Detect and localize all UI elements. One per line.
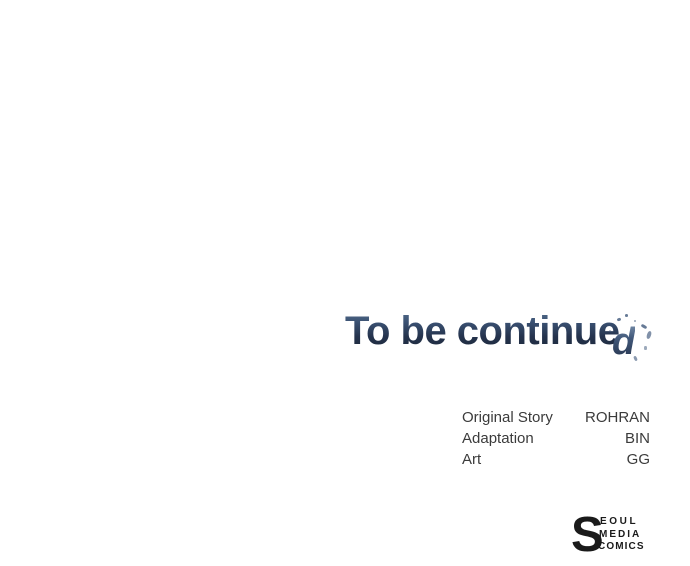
- to-be-continued-text: To be continue: [345, 308, 619, 354]
- logo-line-eoul: EOUL: [598, 516, 645, 529]
- credit-name-value: GG: [617, 449, 650, 470]
- credit-role-label: Original Story: [462, 407, 553, 428]
- credit-role-label: Adaptation: [462, 428, 534, 449]
- credit-name-value: ROHRAN: [575, 407, 650, 428]
- water-splash-droplet-icon: [609, 330, 611, 332]
- to-be-continued-title: To be continue d: [345, 308, 675, 370]
- to-be-continued-final-letter: d: [612, 322, 635, 362]
- credit-row: Original Story ROHRAN: [462, 407, 650, 428]
- logo-line-comics: COMICS: [598, 541, 645, 554]
- credit-role-label: Art: [462, 449, 481, 470]
- water-splash-droplet-icon: [625, 314, 628, 317]
- water-splash-droplet-icon: [641, 324, 648, 330]
- credits-block: Original Story ROHRAN Adaptation BIN Art…: [462, 407, 650, 470]
- credit-row: Adaptation BIN: [462, 428, 650, 449]
- logo-line-media: MEDIA: [598, 529, 645, 542]
- credit-row: Art GG: [462, 449, 650, 470]
- seoul-media-comics-logo: S EOUL MEDIA COMICS: [571, 513, 657, 559]
- water-splash-droplet-icon: [644, 346, 647, 350]
- water-splash-droplet-icon: [646, 331, 652, 340]
- comic-end-page: To be continue d Original Story ROHRAN A…: [0, 0, 690, 566]
- logo-wordmark: EOUL MEDIA COMICS: [598, 516, 645, 554]
- credit-name-value: BIN: [615, 428, 650, 449]
